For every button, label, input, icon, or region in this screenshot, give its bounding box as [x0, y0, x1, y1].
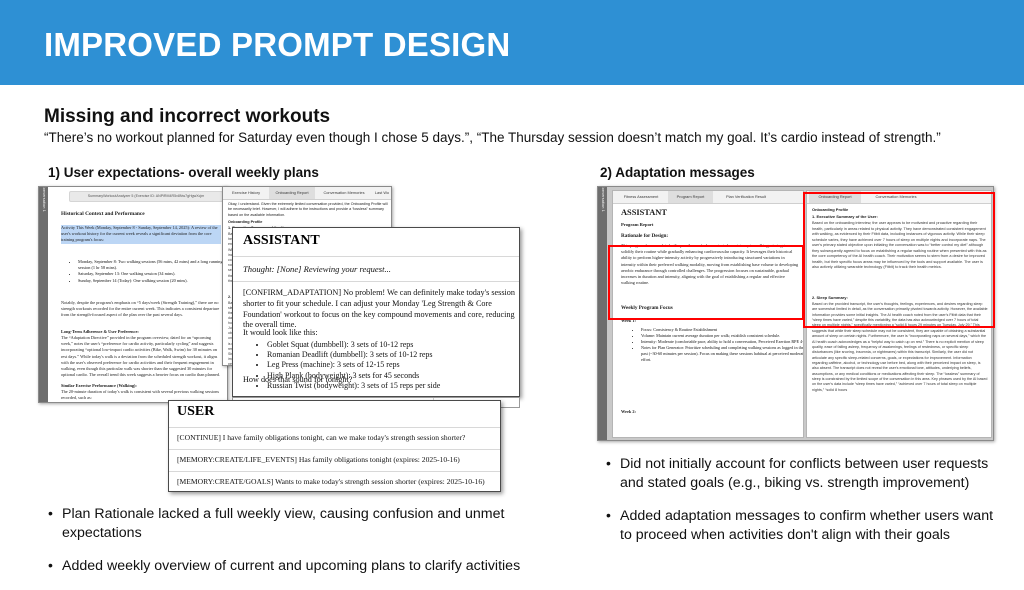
weekly-program-focus-title: Weekly Program Focus: [621, 305, 673, 313]
assistant-message: [CONFIRM_ADAPTATION] No problem! We can …: [243, 288, 518, 331]
right-exec-summary-text: Based on the onboarding interview, the u…: [812, 221, 988, 271]
rationale-title: Rationale for Design:: [621, 233, 668, 241]
section-quote: “There’s no workout planned for Saturday…: [44, 130, 941, 145]
right-onboarding-profile-label: Onboarding Profile: [812, 207, 848, 213]
assistant-thought: Thought: [None] Reviewing your request..…: [243, 264, 511, 274]
week1-label: Week 1:: [621, 318, 636, 324]
user-row: [MEMORY:CREATE/LIFE_EVENTS] Has family o…: [177, 455, 495, 464]
week2-label: Week 2:: [621, 409, 636, 415]
exercise-item: Leg Press (machine): 3 sets of 12-15 rep…: [267, 360, 520, 370]
tab-program-report[interactable]: Program Report: [668, 191, 713, 203]
bullet-item: Plan Rationale lacked a full weekly view…: [44, 505, 564, 543]
right-sleep-summary-text: Based on the provided transcript, the us…: [812, 302, 988, 393]
activity-list: Monday, September 8: Two walking session…: [69, 259, 228, 284]
conversation-rail: Conversation 1: [39, 187, 48, 402]
exercise-item: Goblet Squat (dumbbell): 3 sets of 10-12…: [267, 340, 520, 350]
notably-paragraph: Notably, despite the program's emphasis …: [61, 300, 221, 319]
assistant-card-title: ASSISTANT: [243, 233, 320, 249]
column-heading-left: 1) User expectations- overall weekly pla…: [48, 165, 319, 180]
right-assistant-title: ASSISTANT: [621, 208, 667, 217]
bullets-left: Plan Rationale lacked a full weekly view…: [44, 505, 564, 590]
adherence-paragraph: The “Adaptation Directive” provided in t…: [61, 335, 221, 379]
right-screenshot-adaptation: Conversation 1 Fitness Assessment Progra…: [597, 186, 994, 441]
user-message-card: USER [CONTINUE] I have family obligation…: [168, 400, 501, 492]
tab-conversation-memories[interactable]: Conversation Memories: [317, 187, 371, 199]
week1-list: Focus: Consistency & Routine Establishme…: [631, 327, 804, 364]
assistant-message-card: ASSISTANT Thought: [None] Reviewing your…: [232, 227, 520, 397]
tab-plan-verification-result[interactable]: Plan Verification Result: [715, 191, 777, 203]
onboarding-intro: Okay, I understand. Given the extremely …: [228, 202, 388, 218]
section-heading: Missing and incorrect workouts: [44, 106, 330, 128]
rationale-paragraph: This program framework is built upon the…: [621, 243, 799, 287]
assistant-lead-in: It would look like this:: [243, 328, 511, 337]
exercise-id-pill[interactable]: SummaryWorkoutAnalyzer 5 (Exercise ID: A…: [69, 191, 223, 202]
bullets-right: Did not initially account for conflicts …: [602, 455, 1002, 559]
tab-onboarding-report[interactable]: Onboarding Report: [269, 187, 315, 199]
onboarding-report-pane: Onboarding Report Conversation Memories …: [806, 190, 992, 438]
tab-conversation-memories-right[interactable]: Conversation Memories: [865, 191, 927, 203]
assistant-closing: How does that sound for tonight?: [243, 375, 511, 384]
activity-item: Monday, September 8: Two walking session…: [78, 259, 228, 271]
left-screenshot-summary: Conversation 1 SummaryWorkoutAnalyzer 5 …: [38, 186, 228, 403]
user-row: [CONTINUE] I have family obligations ton…: [177, 433, 495, 442]
program-report-label: Program Report: [621, 222, 653, 229]
exercise-item: Romanian Deadlift (dumbbell): 3 sets of …: [267, 350, 520, 360]
bullet-item: Added adaptation messages to confirm whe…: [602, 507, 1002, 545]
right-sleep-summary-title: 2. Sleep Summary:: [812, 295, 848, 301]
tab-onboarding-report-right[interactable]: Onboarding Report: [809, 191, 861, 203]
tab-last-workout[interactable]: Last Wo: [372, 187, 392, 199]
week1-item: Notes for Plan Generator: Prioritize sch…: [641, 345, 804, 363]
activity-item: Sunday, September 14 (Today): One walkin…: [78, 278, 228, 284]
user-card-title: USER: [177, 404, 214, 420]
column-heading-right: 2) Adaptation messages: [600, 165, 755, 180]
user-row: [MEMORY:CREATE/GOALS] Wants to make toda…: [177, 477, 495, 486]
onboarding-profile-label: Onboarding Profile: [228, 220, 388, 226]
tab-exercise-history[interactable]: Exercise History: [225, 187, 267, 199]
right-conversation-rail-label: Conversation 1: [601, 186, 605, 221]
bullet-item: Did not initially account for conflicts …: [602, 455, 1002, 493]
conversation-rail-label: Conversation 1: [42, 186, 46, 221]
program-report-pane: Fitness Assessment Program Report Plan V…: [612, 190, 804, 438]
activity-week-paragraph: Activity This Week (Monday, September 8 …: [61, 225, 221, 244]
right-exec-summary-title: 1. Executive Summary of the User:: [812, 214, 878, 220]
historical-context-title: Historical Context and Performance: [61, 211, 221, 219]
bullet-item: Added weekly overview of current and upc…: [44, 557, 564, 576]
right-conversation-rail: Conversation 1: [598, 187, 607, 440]
tab-fitness-assessment[interactable]: Fitness Assessment: [616, 191, 666, 203]
page-title: IMPROVED PROMPT DESIGN: [44, 26, 510, 64]
